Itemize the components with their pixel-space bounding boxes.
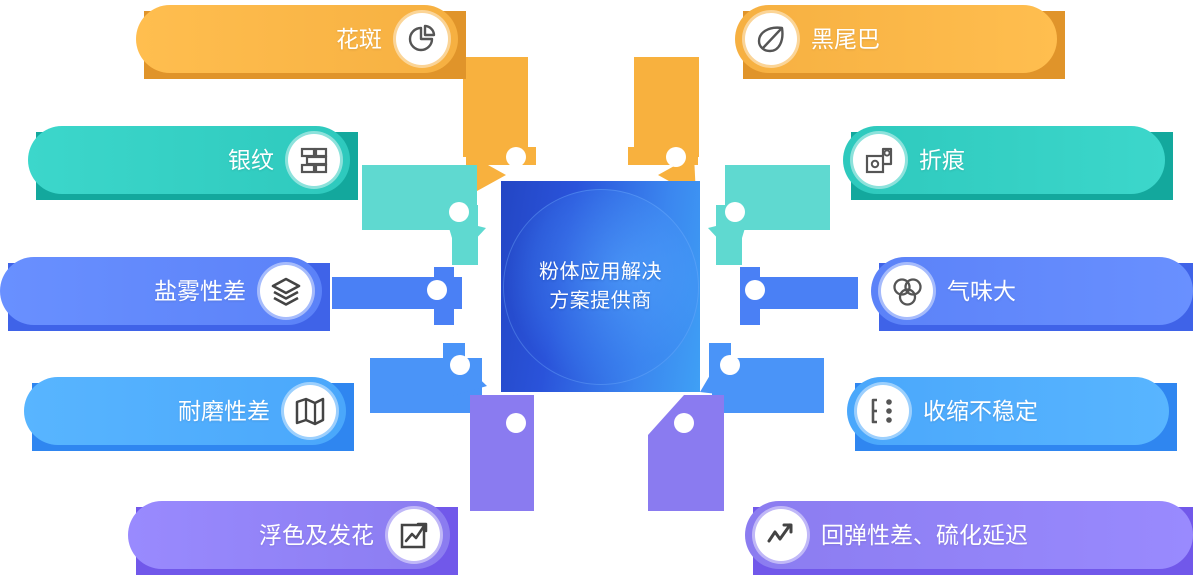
node-body: 回弹性差、硫化延迟: [745, 501, 1193, 569]
connector-right-blue: [740, 267, 858, 325]
map-icon: [284, 385, 336, 437]
node-left-4[interactable]: 浮色及发花: [128, 501, 450, 569]
node-body: 银纹: [28, 126, 350, 194]
node-left-2[interactable]: 盐雾性差: [0, 257, 322, 325]
node-right-4[interactable]: 回弹性差、硫化延迟: [745, 501, 1193, 569]
diagram-canvas: 粉体应用解决 方案提供商 花斑银纹盐雾性差耐磨性差浮色及发花黑尾巴折痕气味大收缩…: [0, 0, 1193, 577]
node-body: 盐雾性差: [0, 257, 322, 325]
pie-chart-icon: [396, 13, 448, 65]
node-body: 浮色及发花: [128, 501, 450, 569]
center-node[interactable]: 粉体应用解决 方案提供商: [501, 181, 700, 392]
hierarchy-icon: [857, 385, 909, 437]
node-left-0[interactable]: 花斑: [136, 5, 458, 73]
node-right-2[interactable]: 气味大: [871, 257, 1193, 325]
node-body: 折痕: [843, 126, 1165, 194]
layers-icon: [260, 265, 312, 317]
node-body: 花斑: [136, 5, 458, 73]
connector-left-lightblue: [370, 343, 487, 413]
line-chart-icon: [755, 509, 807, 561]
node-left-3[interactable]: 耐磨性差: [24, 377, 346, 445]
puzzle-icon: [853, 134, 905, 186]
node-right-1[interactable]: 折痕: [843, 126, 1165, 194]
node-label: 折痕: [919, 149, 965, 172]
connector-right-teal: [708, 165, 830, 265]
node-label: 耐磨性差: [178, 400, 270, 423]
center-label: 粉体应用解决 方案提供商: [539, 258, 662, 316]
connector-left-purple: [470, 395, 534, 511]
connector-right-orange: [628, 57, 699, 196]
node-label: 盐雾性差: [154, 280, 246, 303]
node-body: 黑尾巴: [735, 5, 1057, 73]
node-left-1[interactable]: 银纹: [28, 126, 350, 194]
node-label: 银纹: [228, 149, 274, 172]
node-body: 耐磨性差: [24, 377, 346, 445]
node-right-0[interactable]: 黑尾巴: [735, 5, 1057, 73]
node-label: 黑尾巴: [811, 28, 880, 51]
node-body: 气味大: [871, 257, 1193, 325]
connector-left-blue: [332, 267, 462, 325]
node-body: 收缩不稳定: [847, 377, 1169, 445]
node-label: 花斑: [336, 28, 382, 51]
leaf-icon: [745, 13, 797, 65]
trending-up-box-icon: [388, 509, 440, 561]
connector-left-teal: [362, 165, 486, 265]
recycle-icon: [881, 265, 933, 317]
node-label: 回弹性差、硫化延迟: [821, 524, 1028, 547]
node-label: 收缩不稳定: [923, 400, 1038, 423]
node-label: 气味大: [947, 280, 1016, 303]
node-right-3[interactable]: 收缩不稳定: [847, 377, 1169, 445]
brick-wall-icon: [288, 134, 340, 186]
connector-right-purple: [648, 395, 724, 511]
node-label: 浮色及发花: [259, 524, 374, 547]
